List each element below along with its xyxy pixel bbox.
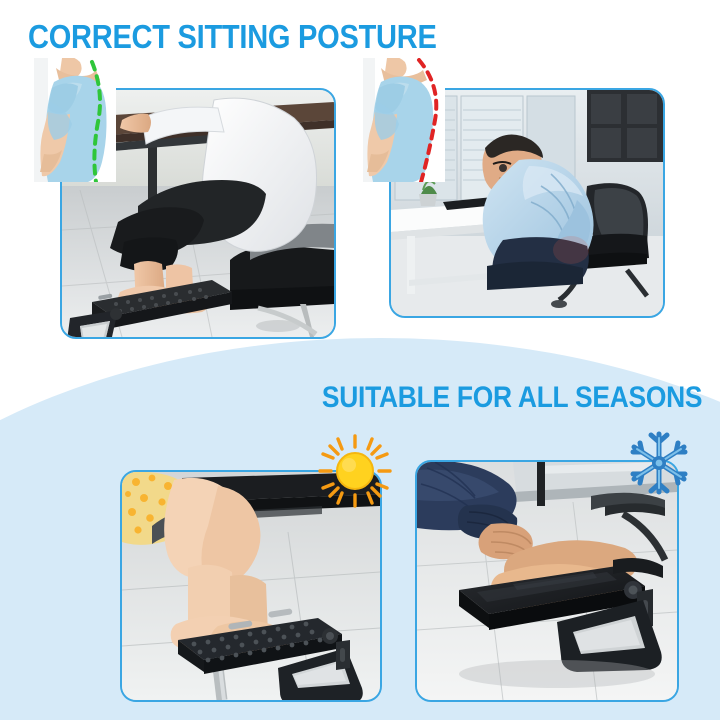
snowflake-icon xyxy=(628,430,690,496)
inset-bad-posture xyxy=(363,58,445,182)
illustration-bad-spine-profile xyxy=(363,58,445,182)
heading-suitable-for-all-seasons: SUITABLE FOR ALL SEASONS xyxy=(322,381,702,415)
sun-icon xyxy=(318,434,392,508)
inset-good-posture xyxy=(34,58,116,182)
snowflake-glyph xyxy=(628,430,690,496)
illustration-good-spine-profile xyxy=(34,58,116,182)
infographic-canvas: CORRECT SITTING POSTURE SUITABLE FOR ALL… xyxy=(0,0,720,720)
heading-correct-sitting-posture: CORRECT SITTING POSTURE xyxy=(28,18,437,56)
sun-glyph xyxy=(318,434,392,508)
illustration-socked-feet-on-footrest xyxy=(417,462,677,700)
photo-panel-winter-socked-feet xyxy=(415,460,679,702)
